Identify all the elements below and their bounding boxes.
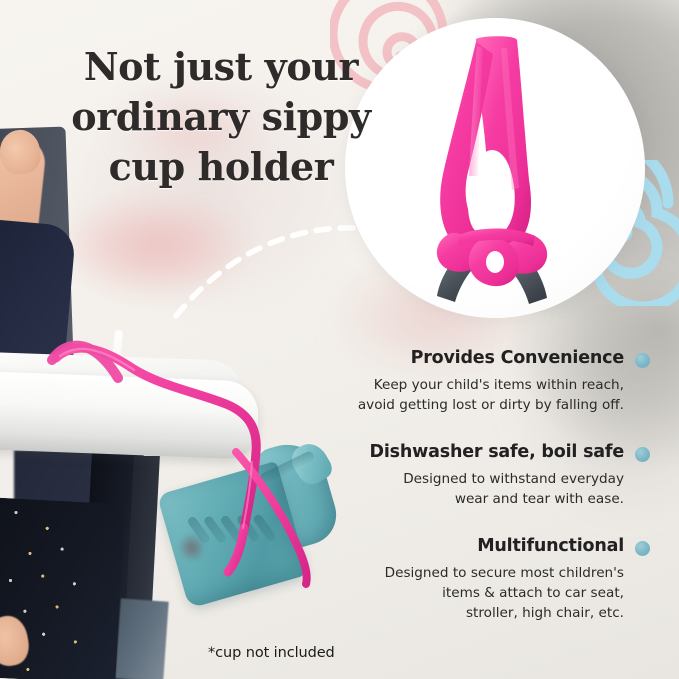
- feature-title: Provides Convenience: [330, 348, 624, 369]
- feature-title: Multifunctional: [330, 536, 624, 557]
- page-title: Not just your ordinary sippy cup holder: [56, 42, 386, 192]
- dot-icon: [635, 541, 650, 556]
- headline-line-1: Not just your: [56, 42, 386, 92]
- dot-icon: [635, 447, 650, 462]
- feature-list: Provides Convenience Keep your child's i…: [330, 348, 660, 650]
- feature-desc-line: avoid getting lost or dirty by falling o…: [330, 396, 624, 416]
- feature-item-convenience: Provides Convenience Keep your child's i…: [330, 348, 660, 416]
- product-closeup-circle: [345, 18, 645, 318]
- feature-description: Designed to secure most children's items…: [330, 564, 624, 624]
- headline-line-3: cup holder: [56, 142, 386, 192]
- pink-strap-product: [345, 18, 645, 318]
- feature-item-dishwasher-safe: Dishwasher safe, boil safe Designed to w…: [330, 442, 660, 510]
- feature-desc-line: items & attach to car seat,: [330, 584, 624, 604]
- feature-desc-line: wear and tear with ease.: [330, 490, 624, 510]
- feature-desc-line: Keep your child's items within reach,: [330, 376, 624, 396]
- footnote-disclaimer: *cup not included: [208, 645, 335, 661]
- dot-icon: [635, 353, 650, 368]
- feature-desc-line: Designed to withstand everyday: [330, 470, 624, 490]
- feature-description: Designed to withstand everyday wear and …: [330, 470, 624, 510]
- feature-desc-line: Designed to secure most children's: [330, 564, 624, 584]
- feature-description: Keep your child's items within reach, av…: [330, 376, 624, 416]
- feature-item-multifunctional: Multifunctional Designed to secure most …: [330, 536, 660, 624]
- product-infographic-image: Not just your ordinary sippy cup holder …: [0, 0, 679, 679]
- feature-title: Dishwasher safe, boil safe: [330, 442, 624, 463]
- feature-desc-line: stroller, high chair, etc.: [330, 604, 624, 624]
- headline-line-2: ordinary sippy: [56, 92, 386, 142]
